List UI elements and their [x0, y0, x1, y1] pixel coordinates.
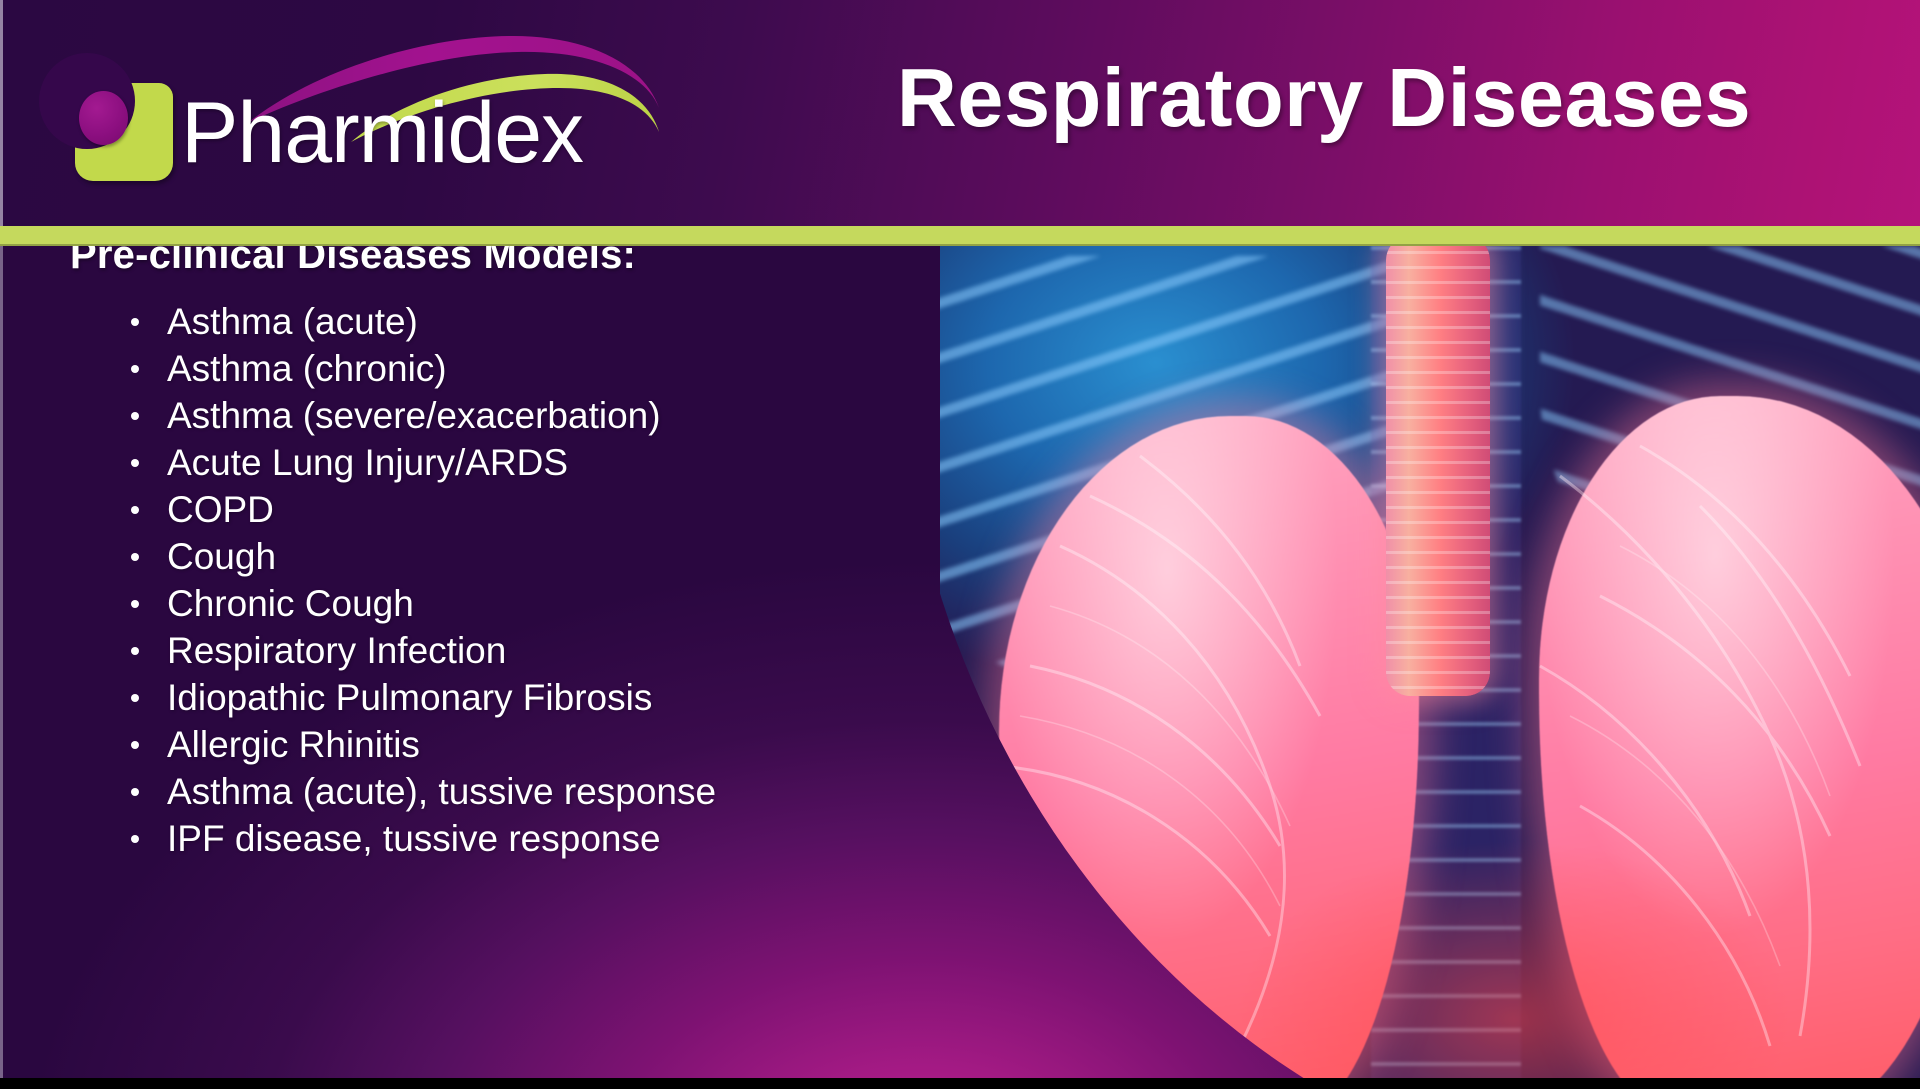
lungs-anatomy-illustration — [940, 246, 1920, 1079]
list-item: Cough — [128, 533, 716, 580]
bullet-dot-icon — [131, 788, 139, 796]
list-item: Allergic Rhinitis — [128, 721, 716, 768]
list-item-label: Asthma (chronic) — [167, 348, 447, 389]
list-item: COPD — [128, 486, 716, 533]
bullet-dot-icon — [131, 365, 139, 373]
list-item: IPF disease, tussive response — [128, 815, 716, 862]
list-item-label: Asthma (acute) — [167, 301, 418, 342]
disease-models-list: Asthma (acute) Asthma (chronic) Asthma (… — [128, 298, 716, 862]
list-item: Idiopathic Pulmonary Fibrosis — [128, 674, 716, 721]
list-item-label: Cough — [167, 536, 276, 577]
header-left-border — [0, 0, 3, 226]
pharmidex-logo-mark-icon — [75, 83, 173, 181]
green-divider-bar — [0, 226, 1920, 246]
bullet-dot-icon — [131, 459, 139, 467]
list-item: Acute Lung Injury/ARDS — [128, 439, 716, 486]
bullet-dot-icon — [131, 506, 139, 514]
page-title: Respiratory Diseases — [784, 50, 1864, 146]
list-item: Respiratory Infection — [128, 627, 716, 674]
list-item: Chronic Cough — [128, 580, 716, 627]
list-item-label: Idiopathic Pulmonary Fibrosis — [167, 677, 652, 718]
list-item-label: Acute Lung Injury/ARDS — [167, 442, 568, 483]
logo-circle-shape — [79, 91, 128, 145]
list-item-label: Asthma (acute), tussive response — [167, 771, 716, 812]
pharmidex-logo: Pharmidex — [75, 38, 635, 183]
bullet-dot-icon — [131, 553, 139, 561]
section-heading: Pre-clinical Diseases Models: — [70, 246, 636, 278]
list-item-label: COPD — [167, 489, 274, 530]
list-item: Asthma (severe/exacerbation) — [128, 392, 716, 439]
bullet-dot-icon — [131, 835, 139, 843]
list-item: Asthma (acute), tussive response — [128, 768, 716, 815]
bullet-dot-icon — [131, 741, 139, 749]
bottom-black-band — [0, 1078, 1920, 1089]
list-item-label: IPF disease, tussive response — [167, 818, 661, 859]
body-left-border — [0, 246, 3, 1079]
bullet-dot-icon — [131, 694, 139, 702]
list-item-label: Chronic Cough — [167, 583, 414, 624]
list-item: Asthma (acute) — [128, 298, 716, 345]
bullet-dot-icon — [131, 318, 139, 326]
slide-canvas: Pharmidex Respiratory Diseases — [0, 0, 1920, 1089]
list-item-label: Allergic Rhinitis — [167, 724, 420, 765]
bullet-dot-icon — [131, 647, 139, 655]
bullet-dot-icon — [131, 600, 139, 608]
list-item-label: Asthma (severe/exacerbation) — [167, 395, 661, 436]
list-item-label: Respiratory Infection — [167, 630, 506, 671]
logo-wordmark: Pharmidex — [181, 90, 583, 176]
bullet-dot-icon — [131, 412, 139, 420]
slide-body: Pre-clinical Diseases Models: Asthma (ac… — [0, 246, 1920, 1079]
slide-header: Pharmidex Respiratory Diseases — [0, 0, 1920, 226]
pulmonary-vessels — [940, 246, 1920, 1079]
list-item: Asthma (chronic) — [128, 345, 716, 392]
